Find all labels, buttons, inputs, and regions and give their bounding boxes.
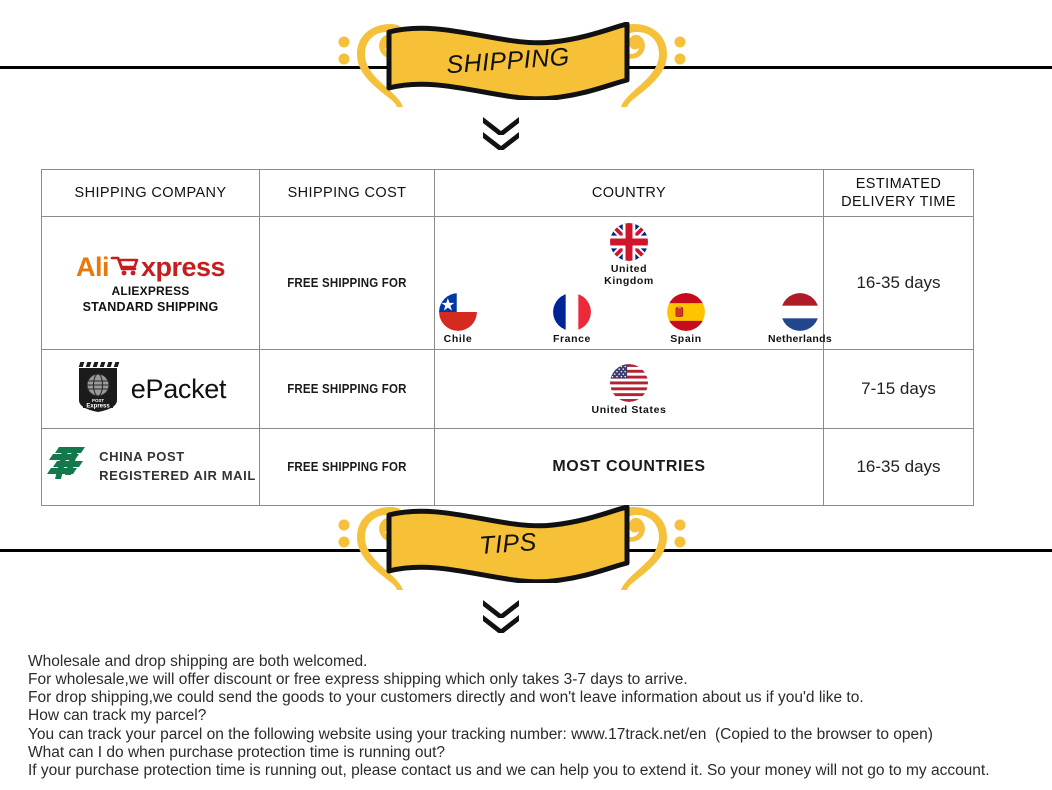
shipping-banner: SHIPPING [0,4,1052,114]
svg-text:Express: Express [86,403,110,409]
header-shipping-cost: SHIPPING COST [260,170,435,217]
delivery-time-label: 16-35 days [856,273,940,292]
chevron-down-shipping [481,117,521,157]
flag-gb-icon [610,223,648,261]
epacket-badge-icon: POST Express [75,360,121,419]
china-post-logo-text: CHINA POST REGISTERED AIR MAIL [99,448,256,486]
flag-item: Spain [647,293,725,345]
table-header-row: SHIPPING COMPANY SHIPPING COST COUNTRY E… [42,170,974,217]
flag-cl-icon [439,293,477,331]
flag-label: Netherlands [768,333,832,345]
flag-label: United Kingdom [590,263,668,287]
chevron-down-tips [481,600,521,640]
cell-cost-aliexpress: FREE SHIPPING FOR [260,217,435,350]
table-row: POST Express ePacket FREE SHIPPING FOR [42,350,974,429]
cell-company-aliexpress: Ali xpress ALIEXPRESS STANDARD SH [42,217,260,350]
aliexpress-logo: Ali xpress [76,253,225,282]
cell-cost-epacket: FREE SHIPPING FOR [260,350,435,429]
delivery-time-label: 16-35 days [856,457,940,476]
flag-item: United States [590,364,668,416]
flag-item: France [533,293,611,345]
cell-company-epacket: POST Express ePacket [42,350,260,429]
flag-item: Chile [419,293,497,345]
header-country: COUNTRY [435,170,824,217]
svg-text:POST: POST [92,398,104,403]
flag-es-icon [667,293,705,331]
delivery-time-label: 7-15 days [861,379,936,398]
flag-label: France [553,333,591,345]
aliexpress-sub-line-1: ALIEXPRESS [111,284,189,298]
shipping-ribbon [383,22,633,100]
tips-banner: TIPS [0,487,1052,597]
cost-label: FREE SHIPPING FOR [287,276,406,290]
flag-label: Spain [670,333,702,345]
flag-us-icon [610,364,648,402]
flag-item: Netherlands [761,293,839,345]
header-shipping-company: SHIPPING COMPANY [42,170,260,217]
flag-label: United States [592,404,667,416]
flag-item: United Kingdom [590,223,668,287]
china-post-line-2: REGISTERED AIR MAIL [99,468,256,483]
epacket-logo-text: ePacket [131,374,226,405]
table-row: Ali xpress ALIEXPRESS STANDARD SH [42,217,974,350]
flag-nl-icon [781,293,819,331]
header-estimated-delivery-time: ESTIMATED DELIVERY TIME [824,170,974,217]
cell-time-aliexpress: 16-35 days [824,217,974,350]
tips-paragraph: Wholesale and drop shipping are both wel… [28,653,1043,780]
cell-country-epacket: United States [435,350,824,429]
aliexpress-logo-xpress: xpress [141,254,225,281]
cell-country-aliexpress: United Kingdom [435,217,824,350]
shopping-cart-icon [110,253,140,282]
aliexpress-logo-ali: Ali [76,254,109,281]
country-text-label: MOST COUNTRIES [552,458,705,475]
cell-time-epacket: 7-15 days [824,350,974,429]
cost-label: FREE SHIPPING FOR [287,382,406,396]
aliexpress-sub-line-2: STANDARD SHIPPING [83,300,219,314]
shipping-table: SHIPPING COMPANY SHIPPING COST COUNTRY E… [41,169,974,506]
tips-ribbon [383,505,633,583]
china-post-logo-icon [45,445,87,490]
flag-fr-icon [553,293,591,331]
cost-label: FREE SHIPPING FOR [287,460,406,474]
flag-label: Chile [444,333,473,345]
china-post-line-1: CHINA POST [99,449,185,464]
